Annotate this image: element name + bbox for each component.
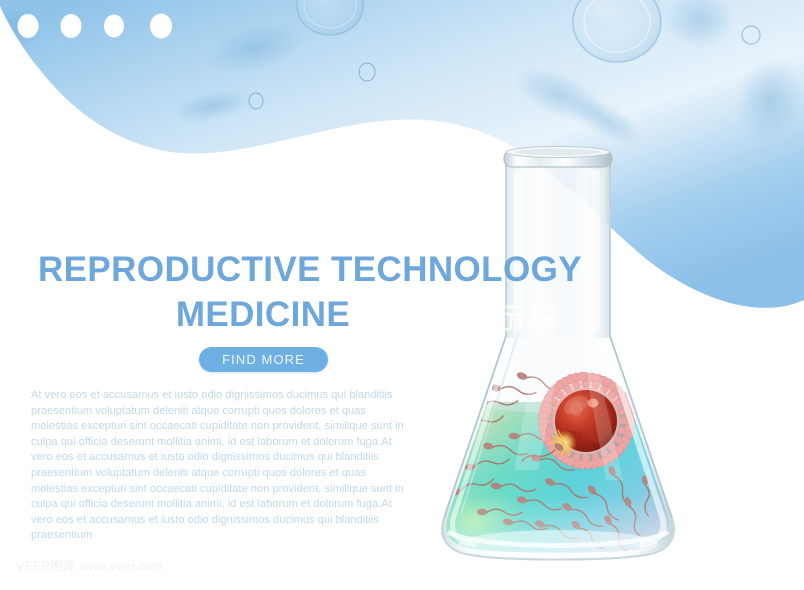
find-more-button[interactable]: FIND MORE xyxy=(199,347,328,372)
banner-canvas: REPRODUCTIVE TECHNOLOGY MEDICINE FIND MO… xyxy=(0,0,804,590)
hero-text-block: REPRODUCTIVE TECHNOLOGY MEDICINE FIND MO… xyxy=(0,0,500,590)
stock-watermark: VEER图库 www.veer.com xyxy=(16,557,163,574)
page-title-line-1: REPRODUCTIVE TECHNOLOGY xyxy=(38,252,498,287)
body-paragraph: At vero eos et accusamus et iusto odio d… xyxy=(31,388,406,544)
flask-neck xyxy=(504,147,612,339)
page-title-line-2: MEDICINE xyxy=(38,297,488,332)
